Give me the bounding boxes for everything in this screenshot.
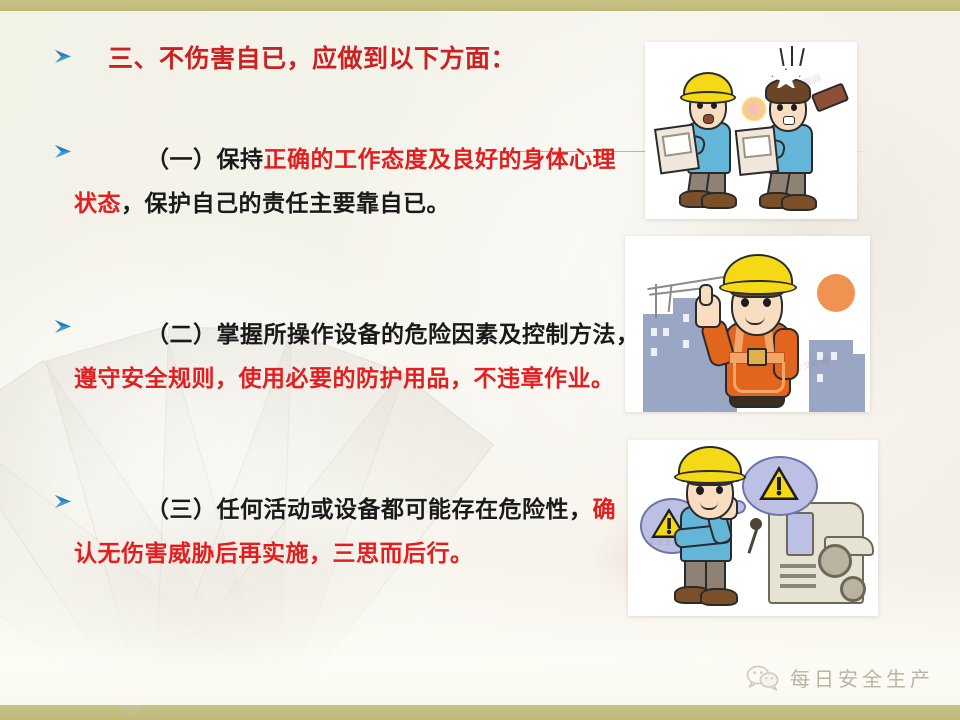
point-2-row: （二）掌握所操作设备的危险因素及控制方法， 遵守安全规则，使用必要的防护用品，不… — [52, 312, 640, 400]
point-2-line-1: （二）掌握所操作设备的危险因素及控制方法， — [108, 312, 640, 356]
point-2-line2-red: 遵守安全规则，使用必要的防护用品，不违章作业。 — [74, 365, 615, 391]
wechat-icon — [746, 664, 780, 692]
blue-arrow-bullet-icon — [52, 316, 74, 338]
footer-account: 每日安全生产 — [746, 663, 934, 692]
blue-arrow-bullet-icon — [52, 46, 74, 68]
pain-burst-icon — [741, 96, 767, 122]
heading-row: 三、不伤害自已，应做到以下方面： — [52, 42, 516, 76]
slide-canvas: 三、不伤害自已，应做到以下方面： （一）保持正确的工作态度及良好的身体心理 状态… — [0, 0, 960, 720]
point-2-line1-black: （二）掌握所操作设备的危险因素及控制方法， — [146, 321, 640, 347]
point-3-line-1: （三）任何活动或设备都可能存在危险性，确 — [108, 487, 616, 531]
warning-triangle-icon — [758, 464, 800, 502]
background-fan-watermark — [0, 150, 520, 670]
point-1-line-1: （一）保持正确的工作态度及良好的身体心理 — [108, 137, 616, 181]
heading-text: 三、不伤害自已，应做到以下方面： — [108, 45, 516, 73]
point-1-line2-red: 状态 — [74, 190, 121, 216]
point-3-line1-black: （三）任何活动或设备都可能存在危险性， — [146, 496, 593, 522]
image-worker-thumbs-up-construction: 安全文化网 — [625, 236, 870, 412]
point-1-line1-black: （一）保持 — [146, 146, 264, 172]
image-worker-thinking-hazard-machine: 安全生产 — [628, 440, 878, 616]
top-accent-bar — [0, 0, 960, 11]
point-3-line-2: 认无伤害威胁后再实施，三思而后行。 — [74, 531, 616, 575]
point-3-line1-red: 确 — [593, 496, 617, 522]
point-3-row: （三）任何活动或设备都可能存在危险性，确 认无伤害威胁后再实施，三思而后行。 — [52, 487, 616, 575]
blue-arrow-bullet-icon — [52, 141, 74, 163]
point-1-line2-black: ，保护自己的责任主要靠自已。 — [121, 190, 450, 216]
bottom-accent-bar — [0, 702, 960, 720]
blue-arrow-bullet-icon — [52, 491, 74, 513]
image-workers-helmet-vs-no-helmet: 昵图网 — [645, 42, 857, 219]
point-3-line2-red: 认无伤害威胁后再实施，三思而后行。 — [74, 540, 474, 566]
sun-icon — [817, 274, 855, 312]
point-1-line-2: 状态，保护自己的责任主要靠自已。 — [74, 181, 616, 225]
point-1-line1-red: 正确的工作态度及良好的身体心理 — [264, 146, 617, 172]
footer-account-name: 每日安全生产 — [790, 663, 934, 692]
point-1-row: （一）保持正确的工作态度及良好的身体心理 状态，保护自己的责任主要靠自已。 — [52, 137, 616, 225]
point-2-line-2: 遵守安全规则，使用必要的防护用品，不违章作业。 — [74, 356, 640, 400]
